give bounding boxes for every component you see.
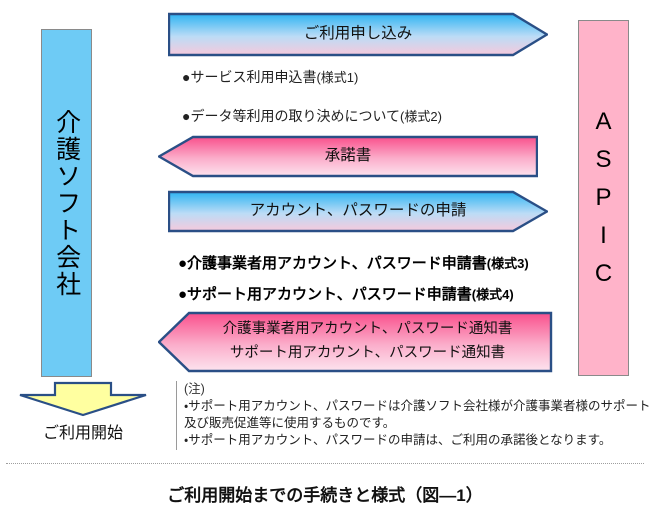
flow-arrow-account-notice-line2: サポート用アカウント、パスワード通知書: [223, 342, 513, 366]
flow-arrow-application-label: ご利用申し込み: [298, 23, 419, 45]
aspic-letter-p: P: [595, 179, 611, 217]
process-flow-diagram: 介護ソフト会社 A S P I C ご利用申し込み ●サービス利用申込書(様式1…: [0, 0, 650, 513]
aspic-letter-c: C: [595, 255, 612, 293]
bullet-form-4-text: ●サポート用アカウント、パスワード申請書: [178, 286, 472, 303]
bullet-form-3: ●介護事業者用アカウント、パスワード申請書(様式3): [178, 252, 529, 273]
start-label: ご利用開始: [18, 419, 148, 443]
bottom-divider: [6, 463, 644, 464]
footnote-line-3: ・サポート用アカウント、パスワードの申請は、ご利用の承諾後となります。: [184, 432, 644, 449]
bullet-form-2-suffix: (様式2): [400, 109, 442, 124]
flow-arrow-account-request-label: アカウント、パスワードの申請: [244, 200, 473, 222]
actor-box-aspic: A S P I C: [578, 20, 629, 376]
bullet-form-2-text: ●データ等利用の取り決めについて: [182, 108, 400, 124]
flow-arrow-account-notice-label: 介護事業者用アカウント、パスワード通知書 サポート用アカウント、パスワード通知書: [217, 318, 519, 366]
footnote-block: (注) ・サポート用アカウント、パスワードは介護ソフト会社様が介護事業者様のサポ…: [176, 381, 644, 450]
bullet-form-3-suffix: (様式3): [487, 256, 529, 271]
bullet-form-1-text: ●サービス利用申込書: [182, 69, 316, 85]
flow-arrow-account-notice: 介護事業者用アカウント、パスワード通知書 サポート用アカウント、パスワード通知書: [158, 311, 553, 373]
flow-arrow-approval: 承諾書: [158, 135, 538, 178]
footnote-line-2: 及び販売促進等に使用するものです。: [184, 415, 644, 432]
flow-arrow-account-request: アカウント、パスワードの申請: [168, 190, 548, 233]
bullet-form-1: ●サービス利用申込書(様式1): [182, 67, 358, 87]
figure-caption: ご利用開始までの手続きと様式（図―1）: [0, 481, 650, 506]
flow-arrow-account-notice-line1: 介護事業者用アカウント、パスワード通知書: [223, 318, 513, 342]
footnote-line-1: ・サポート用アカウント、パスワードは介護ソフト会社様が介護事業者様のサポート: [184, 398, 644, 415]
aspic-letter-s: S: [595, 141, 611, 179]
start-down-arrow-icon: [18, 381, 148, 417]
flow-arrow-application: ご利用申し込み: [168, 12, 548, 57]
bullet-form-3-text: ●介護事業者用アカウント、パスワード申請書: [178, 255, 487, 272]
bullet-form-1-suffix: (様式1): [316, 70, 358, 85]
aspic-letter-i: I: [600, 217, 607, 255]
bullet-form-4: ●サポート用アカウント、パスワード申請書(様式4): [178, 283, 514, 304]
aspic-letter-a: A: [595, 103, 611, 141]
footnote-title: (注): [184, 381, 644, 398]
actor-left-label: 介護ソフト会社: [53, 109, 79, 298]
flow-arrow-approval-label: 承諾書: [319, 145, 378, 167]
bullet-form-4-suffix: (様式4): [472, 287, 514, 302]
actor-box-care-software-company: 介護ソフト会社: [41, 29, 92, 377]
bullet-form-2: ●データ等利用の取り決めについて(様式2): [182, 106, 442, 126]
